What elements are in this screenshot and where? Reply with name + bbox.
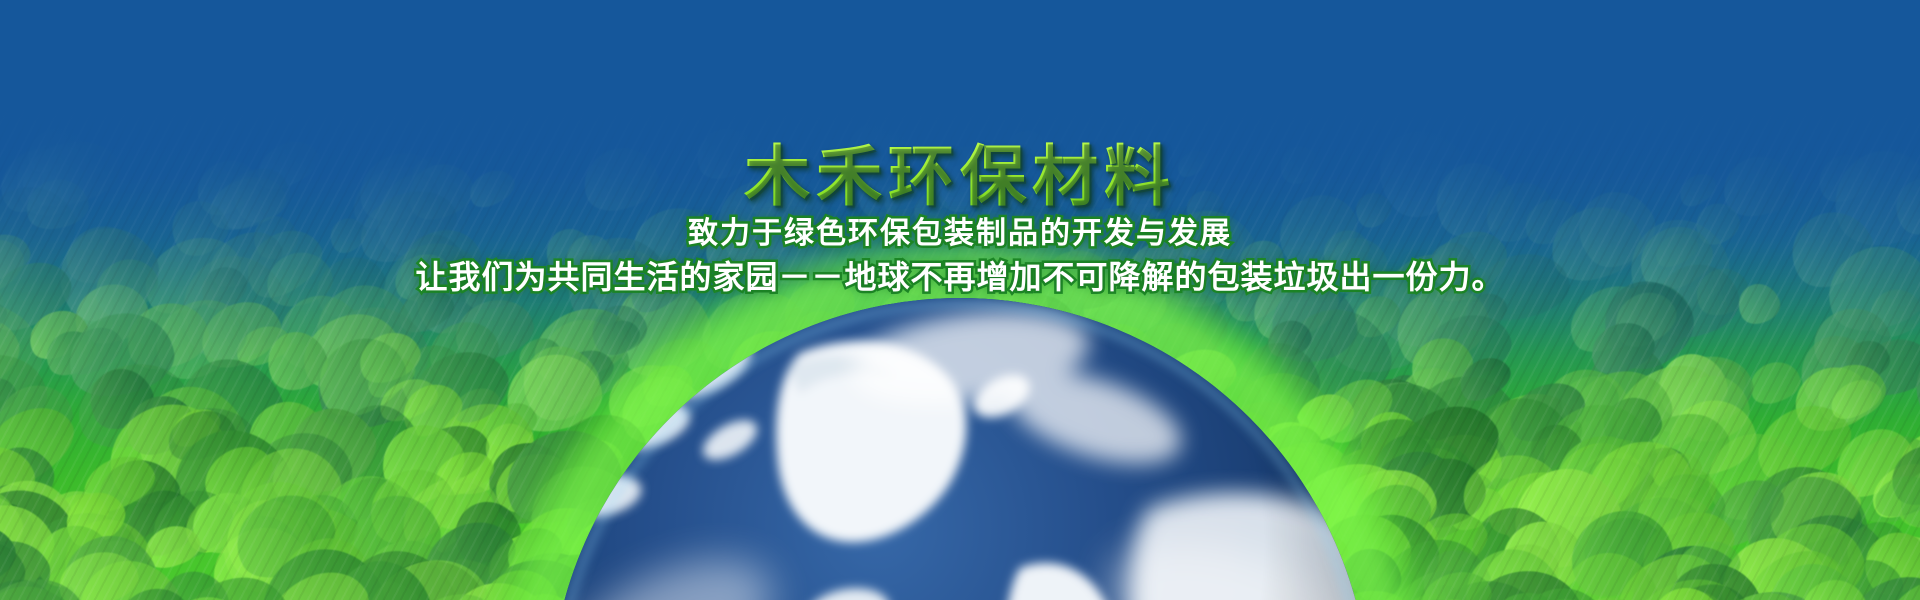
leaf-shape (1275, 141, 1325, 190)
leaf-shape (576, 139, 664, 218)
leaf-shape (1007, 127, 1044, 159)
leaf-shape (1173, 146, 1211, 181)
earth-globe (550, 298, 1370, 600)
earth-sphere (550, 298, 1370, 600)
leaf-shape (464, 163, 521, 213)
earth-map-icon (550, 298, 1370, 600)
promo-banner: 木禾环保材料 致力于绿色环保包装制品的开发与发展 让我们为共同生活的家园－－地球… (0, 0, 1920, 600)
leaf-shape (689, 120, 762, 186)
